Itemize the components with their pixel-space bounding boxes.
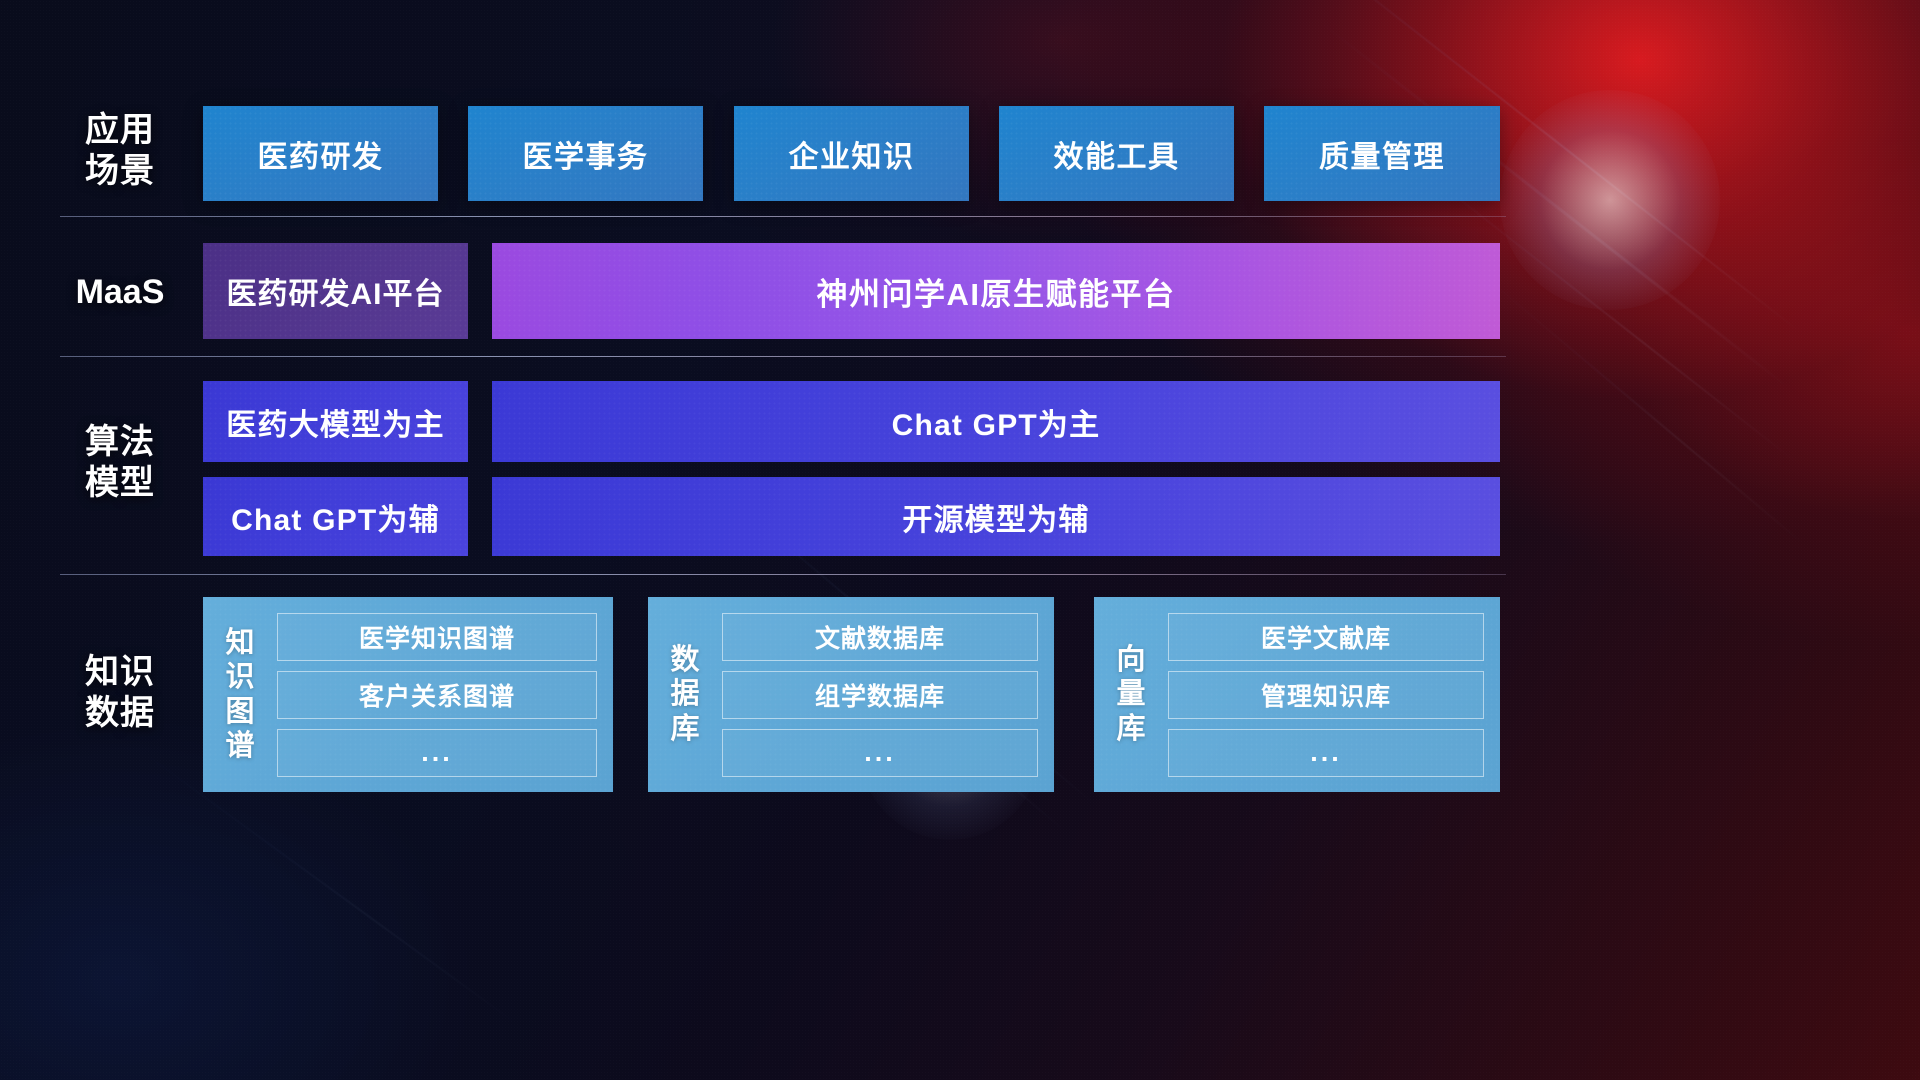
knowledge-group-3[interactable]: 向量库 医学文献库 管理知识库 ... xyxy=(1094,597,1500,792)
algorithm-box-row1-left[interactable]: 医药大模型为主 xyxy=(203,381,468,462)
knowledge-group-3-items: 医学文献库 管理知识库 ... xyxy=(1168,613,1484,777)
layer-label-algorithm: 算法 模型 xyxy=(40,422,200,505)
layer-label-knowledge: 知识 数据 xyxy=(40,652,200,735)
knowledge-group-1[interactable]: 知识图谱 医学知识图谱 客户关系图谱 ... xyxy=(203,597,613,792)
maas-left-label: 医药研发AI平台 xyxy=(227,269,445,313)
app-box-2[interactable]: 医学事务 xyxy=(468,106,703,201)
knowledge-item[interactable]: 组学数据库 xyxy=(722,671,1038,719)
app-box-2-label: 医学事务 xyxy=(523,132,649,176)
knowledge-group-1-items: 医学知识图谱 客户关系图谱 ... xyxy=(277,613,597,777)
knowledge-item[interactable]: 医学知识图谱 xyxy=(277,613,597,661)
knowledge-item[interactable]: ... xyxy=(722,729,1038,777)
knowledge-item[interactable]: 管理知识库 xyxy=(1168,671,1484,719)
app-box-5[interactable]: 质量管理 xyxy=(1264,106,1500,201)
app-box-5-label: 质量管理 xyxy=(1319,132,1445,176)
algorithm-box-row2-right[interactable]: 开源模型为辅 xyxy=(492,477,1500,556)
architecture-diagram-canvas: 应用 场景 医药研发 医学事务 企业知识 效能工具 质量管理 MaaS 医药研发… xyxy=(0,0,1920,1080)
algorithm-box-row1-left-label: 医药大模型为主 xyxy=(226,400,444,444)
divider-maas-algorithm xyxy=(60,356,1506,357)
maas-left-box[interactable]: 医药研发AI平台 xyxy=(203,243,468,339)
layer-label-maas: MaaS xyxy=(40,272,200,313)
maas-right-label: 神州问学AI原生赋能平台 xyxy=(817,269,1176,314)
knowledge-group-1-title: 知识图谱 xyxy=(213,626,267,763)
knowledge-item-label: ... xyxy=(421,737,453,768)
layer-label-application: 应用 场景 xyxy=(40,110,200,193)
algorithm-box-row1-right-label: Chat GPT为主 xyxy=(892,400,1101,444)
knowledge-item-label: 客户关系图谱 xyxy=(359,677,515,713)
maas-right-box[interactable]: 神州问学AI原生赋能平台 xyxy=(492,243,1500,339)
algorithm-box-row1-right[interactable]: Chat GPT为主 xyxy=(492,381,1500,462)
knowledge-item-label: 文献数据库 xyxy=(815,619,945,655)
knowledge-item[interactable]: ... xyxy=(277,729,597,777)
algorithm-box-row2-right-label: 开源模型为辅 xyxy=(902,495,1089,539)
knowledge-group-2[interactable]: 数据库 文献数据库 组学数据库 ... xyxy=(648,597,1054,792)
knowledge-item[interactable]: 医学文献库 xyxy=(1168,613,1484,661)
app-box-4-label: 效能工具 xyxy=(1054,132,1180,176)
app-box-4[interactable]: 效能工具 xyxy=(999,106,1234,201)
algorithm-box-row2-left-label: Chat GPT为辅 xyxy=(231,495,440,539)
knowledge-item-label: ... xyxy=(1310,737,1342,768)
knowledge-group-2-items: 文献数据库 组学数据库 ... xyxy=(722,613,1038,777)
layer-stack: 应用 场景 医药研发 医学事务 企业知识 效能工具 质量管理 MaaS 医药研发… xyxy=(0,0,1920,1080)
app-box-3-label: 企业知识 xyxy=(789,132,915,176)
knowledge-item[interactable]: ... xyxy=(1168,729,1484,777)
knowledge-item-label: ... xyxy=(864,737,896,768)
app-box-3[interactable]: 企业知识 xyxy=(734,106,969,201)
algorithm-box-row2-left[interactable]: Chat GPT为辅 xyxy=(203,477,468,556)
knowledge-item-label: 医学知识图谱 xyxy=(359,619,515,655)
app-box-1[interactable]: 医药研发 xyxy=(203,106,438,201)
knowledge-item[interactable]: 文献数据库 xyxy=(722,613,1038,661)
knowledge-item[interactable]: 客户关系图谱 xyxy=(277,671,597,719)
knowledge-item-label: 管理知识库 xyxy=(1261,677,1391,713)
knowledge-group-3-title: 向量库 xyxy=(1104,643,1158,746)
knowledge-group-2-title: 数据库 xyxy=(658,643,712,746)
app-box-1-label: 医药研发 xyxy=(258,132,384,176)
knowledge-item-label: 组学数据库 xyxy=(815,677,945,713)
knowledge-item-label: 医学文献库 xyxy=(1261,619,1391,655)
divider-algorithm-knowledge xyxy=(60,574,1506,575)
divider-application-maas xyxy=(60,216,1506,217)
